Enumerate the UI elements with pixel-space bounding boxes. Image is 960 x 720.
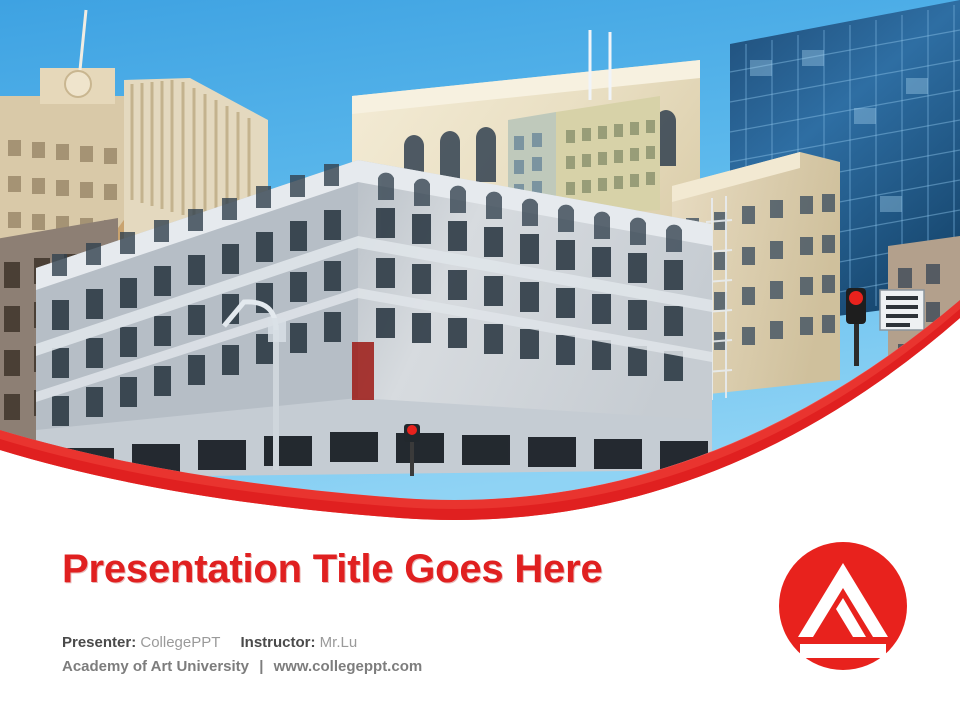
organization-line: Academy of Art University | www.collegep… [62, 656, 722, 677]
photo-content [0, 0, 960, 520]
bus-lane-sign [880, 290, 924, 330]
presentation-slide: Presentation Title Goes Here Presenter: … [0, 0, 960, 720]
title-block: Presentation Title Goes Here [62, 548, 722, 591]
logo-svg [778, 541, 908, 671]
hero-photo-svg [0, 0, 960, 520]
instructor-value: Mr.Lu [320, 634, 358, 651]
website-url[interactable]: www.collegeppt.com [274, 658, 423, 675]
presenter-line: Presenter: CollegePPT Instructor: Mr.Lu [62, 632, 722, 653]
instructor-label: Instructor: [241, 634, 316, 651]
page-title: Presentation Title Goes Here [62, 548, 722, 591]
presenter-label: Presenter: [62, 634, 136, 651]
presenter-value: CollegePPT [140, 634, 220, 651]
academy-of-art-university-logo[interactable] [778, 541, 908, 671]
organization-name: Academy of Art University [62, 658, 249, 675]
hero-image-region [0, 0, 960, 520]
logo-base-bar [800, 644, 886, 658]
meta-block: Presenter: CollegePPT Instructor: Mr.Lu … [62, 632, 722, 677]
corner-banner [352, 342, 374, 400]
meta-separator: | [253, 658, 269, 675]
